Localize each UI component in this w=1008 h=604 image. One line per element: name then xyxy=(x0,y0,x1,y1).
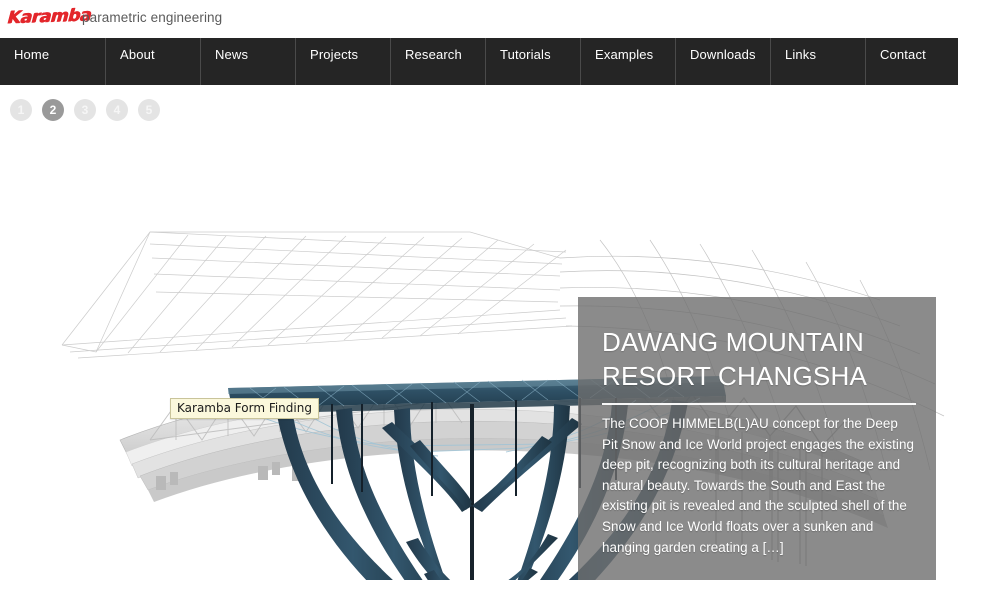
nav-item-projects[interactable]: Projects xyxy=(296,38,391,85)
nav-item-contact[interactable]: Contact xyxy=(866,38,958,85)
nav-item-research[interactable]: Research xyxy=(391,38,486,85)
slide-title: DAWANG MOUNTAIN RESORT CHANGSHA xyxy=(602,325,916,393)
pagination-dot-2[interactable]: 2 xyxy=(42,99,64,121)
nav-item-tutorials[interactable]: Tutorials xyxy=(486,38,581,85)
pagination-dot-5[interactable]: 5 xyxy=(138,99,160,121)
pagination-dot-1[interactable]: 1 xyxy=(10,99,32,121)
nav-item-news[interactable]: News xyxy=(201,38,296,85)
hero-slider[interactable]: Karamba Form Finding DAWANG MOUNTAIN RES… xyxy=(0,140,1008,580)
slide-description: The COOP HIMMELB(L)AU concept for the De… xyxy=(602,414,916,558)
site-header: Karamba parametric engineering xyxy=(0,0,1008,38)
karamba-logo[interactable]: Karamba xyxy=(7,3,75,31)
site-tagline: parametric engineering xyxy=(82,10,222,25)
nav-item-about[interactable]: About xyxy=(106,38,201,85)
karamba-form-finding-tooltip: Karamba Form Finding xyxy=(170,398,319,419)
nav-item-examples[interactable]: Examples xyxy=(581,38,676,85)
nav-item-home[interactable]: Home xyxy=(0,38,106,85)
pagination-dot-3[interactable]: 3 xyxy=(74,99,96,121)
slide-info-panel[interactable]: DAWANG MOUNTAIN RESORT CHANGSHA The COOP… xyxy=(578,297,936,580)
title-divider xyxy=(602,403,916,405)
nav-item-downloads[interactable]: Downloads xyxy=(676,38,771,85)
main-navigation: Home About News Projects Research Tutori… xyxy=(0,38,958,85)
slider-pagination: 1 2 3 4 5 xyxy=(0,99,240,133)
nav-item-links[interactable]: Links xyxy=(771,38,866,85)
pagination-dot-4[interactable]: 4 xyxy=(106,99,128,121)
